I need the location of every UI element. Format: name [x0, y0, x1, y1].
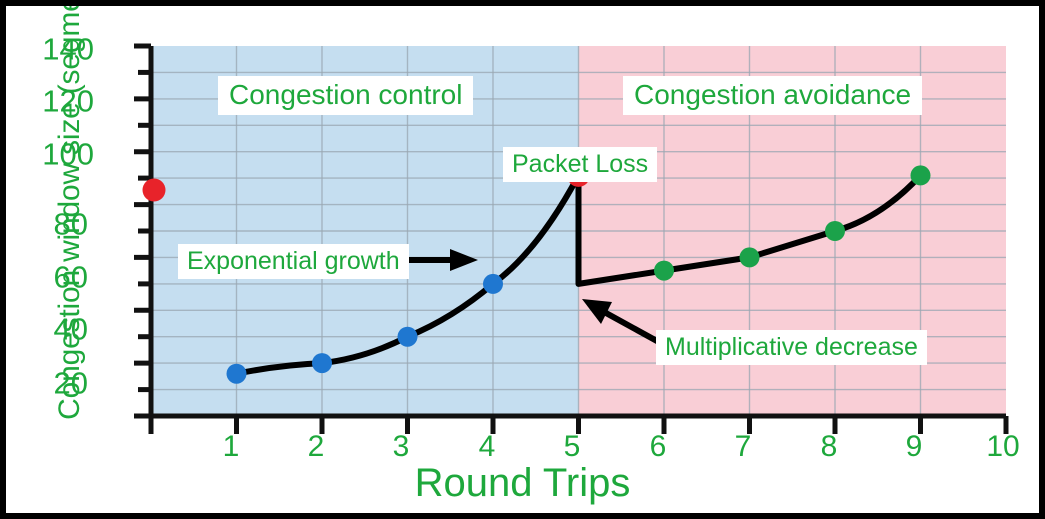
data-point-green-6	[654, 261, 674, 281]
axis-red-marker	[143, 179, 166, 202]
x-axis-title: Round Trips	[6, 461, 1039, 506]
region-label-congestion-avoidance: Congestion avoidance	[623, 76, 922, 115]
annotation-exponential-growth: Exponential growth	[178, 244, 409, 279]
data-point-green-9	[911, 165, 931, 185]
data-point-blue-4	[483, 274, 503, 294]
chart-stage: Congestion window size (segments) 140 12…	[6, 6, 1039, 513]
annotation-packet-loss: Packet Loss	[503, 147, 657, 182]
annotation-multiplicative-decrease: Multiplicative decrease	[656, 330, 927, 365]
y-axis-ticks	[134, 46, 151, 416]
data-point-green-8	[825, 221, 845, 241]
region-label-congestion-control: Congestion control	[218, 76, 473, 115]
chart-figure: Congestion window size (segments) 140 12…	[0, 0, 1045, 519]
data-point-green-7	[740, 247, 760, 267]
data-point-blue-3	[398, 327, 418, 347]
x-axis-ticks	[151, 416, 1006, 434]
data-point-blue-2	[312, 353, 332, 373]
data-point-blue-1	[227, 364, 247, 384]
